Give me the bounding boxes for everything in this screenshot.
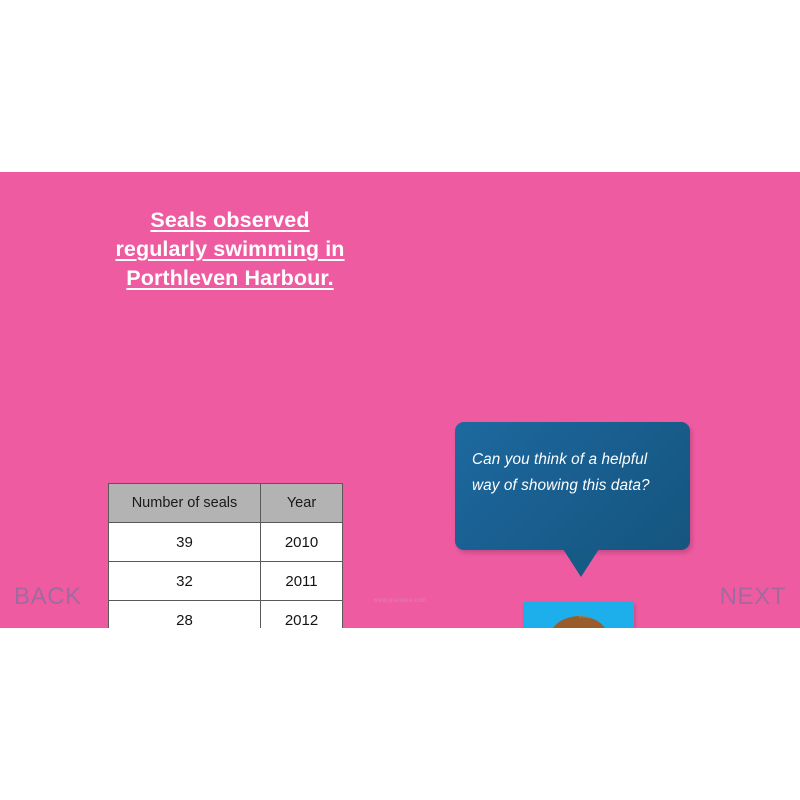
next-button[interactable]: NEXT xyxy=(720,583,786,611)
table-row: 39 2010 xyxy=(109,523,343,562)
cell-year: 2010 xyxy=(261,523,343,562)
boy-character-icon xyxy=(524,602,634,628)
column-header-seals: Number of seals xyxy=(109,484,261,523)
cell-seals: 39 xyxy=(109,523,261,562)
table-header-row: Number of seals Year xyxy=(109,484,343,523)
column-header-year: Year xyxy=(261,484,343,523)
cell-year: 2011 xyxy=(261,562,343,601)
page-title: Seals observed regularly swimming in Por… xyxy=(96,206,364,293)
title-line-1: Seals observed xyxy=(96,206,364,235)
speech-bubble: Can you think of a helpful way of showin… xyxy=(455,422,690,550)
seals-data-table: Number of seals Year 39 2010 32 2011 28 … xyxy=(108,483,343,628)
speech-bubble-tail xyxy=(563,549,599,577)
cell-year: 2012 xyxy=(261,601,343,629)
cell-seals: 28 xyxy=(109,601,261,629)
back-button[interactable]: BACK xyxy=(14,583,82,611)
avatar xyxy=(524,602,634,628)
cell-seals: 32 xyxy=(109,562,261,601)
title-line-3: Porthleven Harbour. xyxy=(96,264,364,293)
presentation-slide: Seals observed regularly swimming in Por… xyxy=(0,172,800,628)
watermark: www.planbee.com xyxy=(0,598,800,604)
table-row: 32 2011 xyxy=(109,562,343,601)
table-row: 28 2012 xyxy=(109,601,343,629)
speech-bubble-text: Can you think of a helpful way of showin… xyxy=(472,447,676,499)
title-line-2: regularly swimming in xyxy=(96,235,364,264)
slide-page: Seals observed regularly swimming in Por… xyxy=(0,0,800,800)
